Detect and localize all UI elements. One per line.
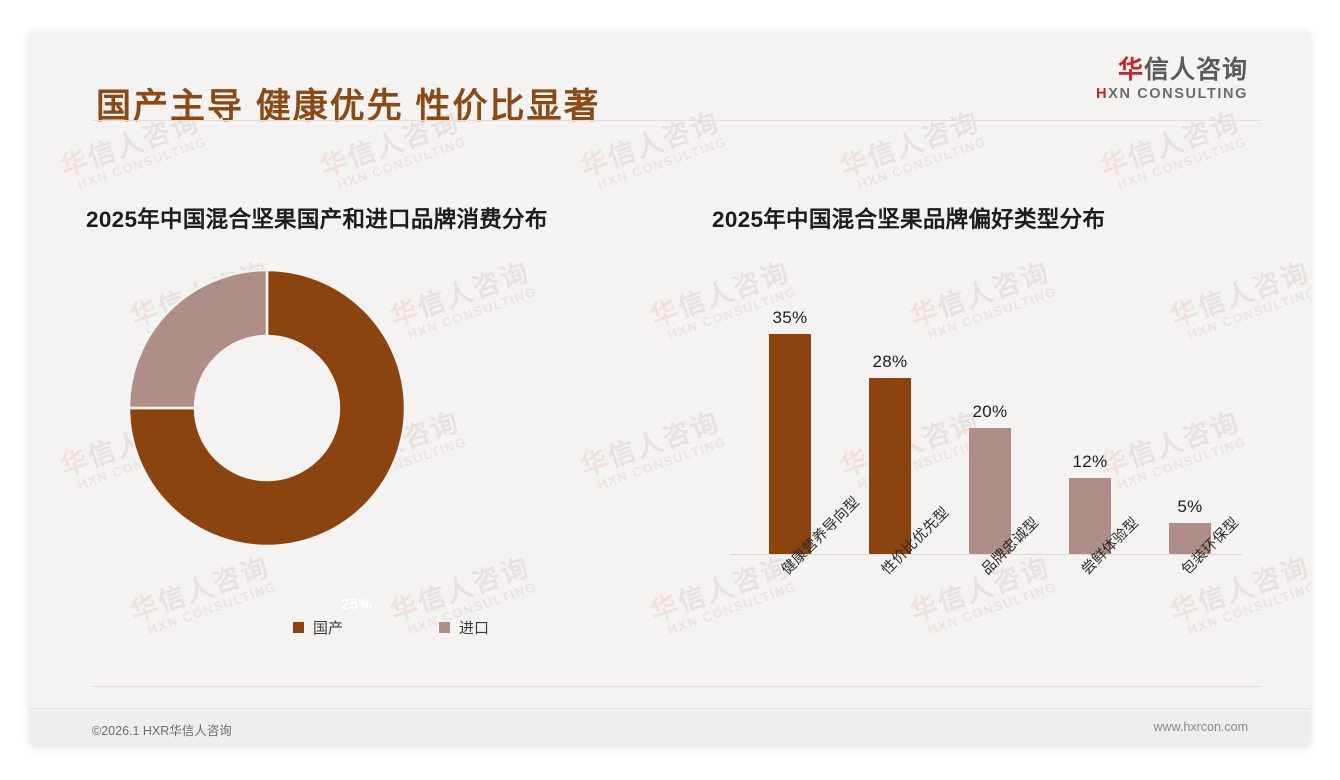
donut-chart: 25% 75% xyxy=(110,270,670,560)
legend-swatch-import xyxy=(439,622,450,633)
legend-item-domestic[interactable]: 国产 xyxy=(293,617,343,638)
logo-english-text: HXN CONSULTING xyxy=(1096,86,1248,102)
logo-en-rest: XN CONSULTING xyxy=(1108,86,1248,102)
donut-label-import: 25% xyxy=(341,596,373,613)
legend-item-import[interactable]: 进口 xyxy=(439,617,489,638)
donut-slice-进口[interactable] xyxy=(129,270,267,408)
bar-value-label: 5% xyxy=(1142,497,1238,517)
footer-copyright: ©2026.1 HXR华信人咨询 xyxy=(92,720,232,739)
donut-svg xyxy=(110,270,670,560)
legend-label-domestic: 国产 xyxy=(313,617,343,638)
bar-rect[interactable] xyxy=(869,378,911,554)
logo-cn-rest: 信人咨询 xyxy=(1144,56,1248,84)
donut-legend: 国产 进口 xyxy=(86,617,696,638)
logo-en-red-char: H xyxy=(1096,86,1108,102)
page-title: 国产主导 健康优先 性价比显著 xyxy=(96,78,600,129)
bar-chart-title: 2025年中国混合坚果品牌偏好类型分布 xyxy=(712,202,1272,234)
bar-value-label: 20% xyxy=(942,402,1038,422)
bar-value-label: 28% xyxy=(842,352,938,372)
bar-rect[interactable] xyxy=(769,334,811,555)
bar-value-label: 12% xyxy=(1042,452,1138,472)
bar-value-label: 35% xyxy=(742,308,838,328)
company-logo: 华信人咨询 HXN CONSULTING xyxy=(1096,56,1248,102)
donut-chart-title: 2025年中国混合坚果国产和进口品牌消费分布 xyxy=(86,202,696,234)
header-divider xyxy=(92,120,1262,121)
logo-chinese-text: 华信人咨询 xyxy=(1096,56,1248,85)
footer-website[interactable]: www.hxrcon.com xyxy=(1154,720,1248,734)
bar-chart: 35%28%20%12%5% 健康营养导向型性价比优先型品牌忠诚型尝鲜体验型包装… xyxy=(722,282,1252,562)
chart-panel-bars: 2025年中国混合坚果品牌偏好类型分布 35%28%20%12%5% 健康营养导… xyxy=(712,202,1272,672)
logo-cn-red-char: 华 xyxy=(1118,56,1144,84)
slide-footer: ©2026.1 HXR华信人咨询 www.hxrcon.com xyxy=(30,708,1310,745)
legend-swatch-domestic xyxy=(293,622,304,633)
slide-header: 国产主导 健康优先 性价比显著 华信人咨询 HXN CONSULTING xyxy=(30,30,1310,122)
legend-label-import: 进口 xyxy=(459,617,489,638)
footnote-divider xyxy=(92,686,1262,687)
slide-canvas: 华信人咨询HXN CONSULTING华信人咨询HXN CONSULTING华信… xyxy=(30,30,1310,745)
chart-panel-donut: 2025年中国混合坚果国产和进口品牌消费分布 25% 75% 国产 进口 xyxy=(86,202,696,672)
